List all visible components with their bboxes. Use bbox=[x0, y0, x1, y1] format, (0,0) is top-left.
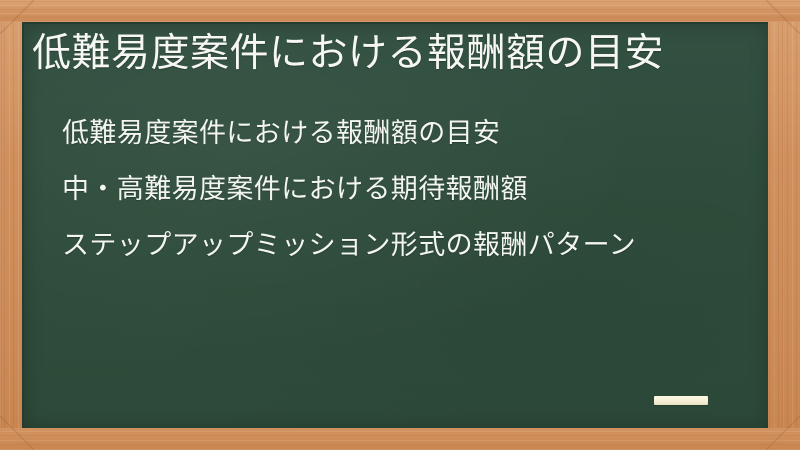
chalk-stick bbox=[654, 396, 708, 405]
topic-list-item: ステップアップミッション形式の報酬パターン bbox=[62, 218, 758, 274]
topic-list-item: 中・高難易度案件における期待報酬額 bbox=[62, 162, 758, 218]
frame-bottom-ledge bbox=[0, 428, 800, 450]
topic-list-item: 低難易度案件における報酬額の目安 bbox=[62, 106, 758, 162]
chalkboard-surface: 低難易度案件における報酬額の目安 低難易度案件における報酬額の目安 中・高難易度… bbox=[22, 22, 768, 428]
blackboard-frame: 低難易度案件における報酬額の目安 低難易度案件における報酬額の目安 中・高難易度… bbox=[0, 0, 800, 450]
topic-list: 低難易度案件における報酬額の目安 中・高難易度案件における期待報酬額 ステップア… bbox=[62, 106, 758, 274]
slide-title: 低難易度案件における報酬額の目安 bbox=[32, 32, 754, 77]
frame-top-rail bbox=[0, 0, 800, 22]
chalkboard-content: 低難易度案件における報酬額の目安 低難易度案件における報酬額の目安 中・高難易度… bbox=[24, 24, 768, 428]
